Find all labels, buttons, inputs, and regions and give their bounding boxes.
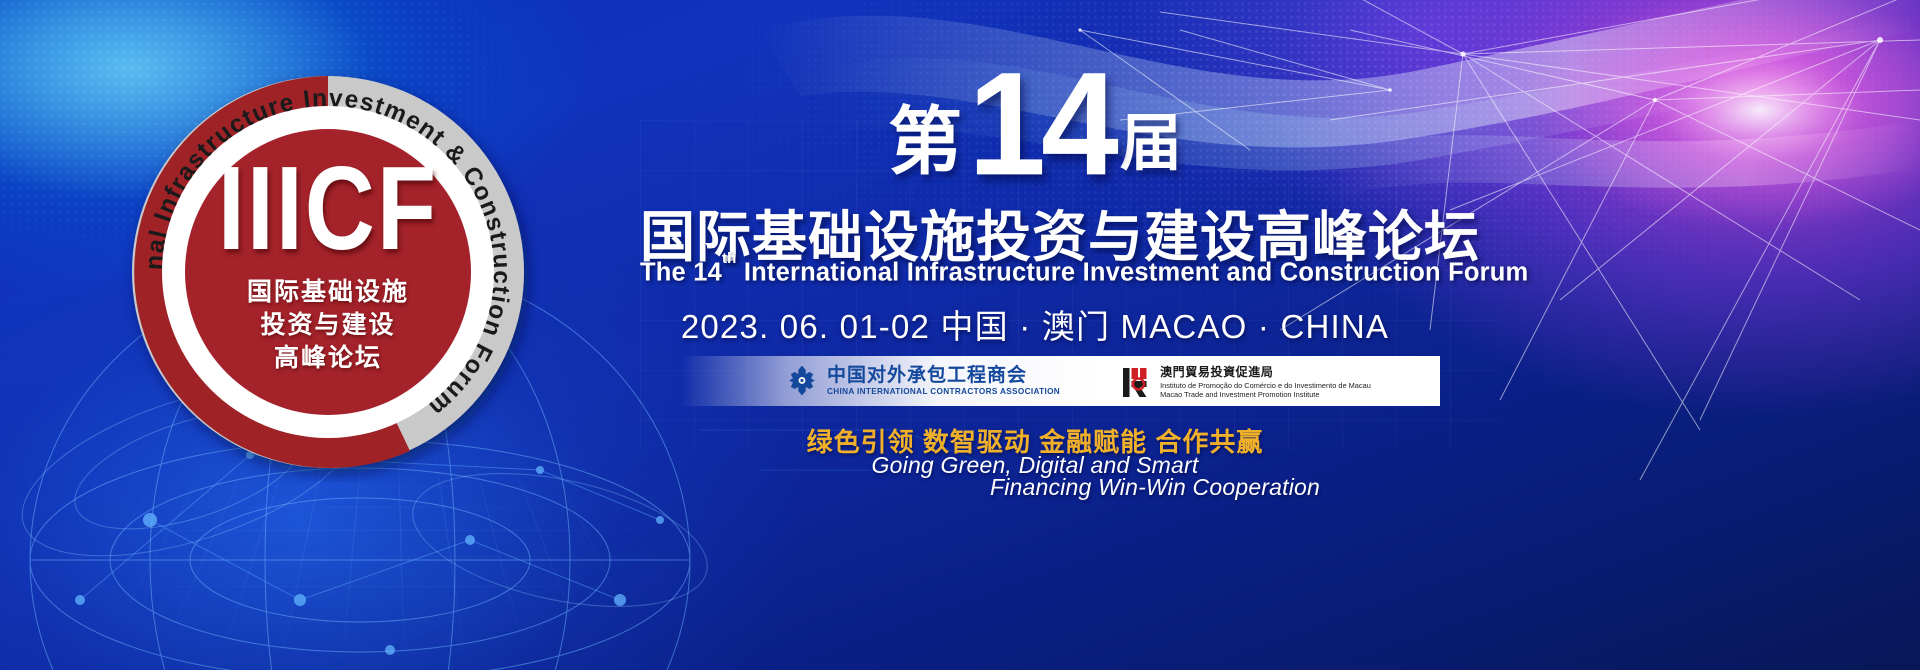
cica-name-cn: 中国对外承包工程商会: [827, 366, 1060, 386]
organiser-logo-bar: 中国对外承包工程商会 CHINA INTERNATIONAL CONTRACTO…: [680, 356, 1440, 406]
banner-content: 第 14 届 国际基础设施投资与建设高峰论坛 The 14th Internat…: [640, 0, 1920, 670]
edition-suffix: 届: [1120, 113, 1182, 175]
cica-name-en: CHINA INTERNATIONAL CONTRACTORS ASSOCIAT…: [827, 387, 1060, 396]
organiser-cica: 中国对外承包工程商会 CHINA INTERNATIONAL CONTRACTO…: [785, 364, 1060, 398]
slogan-english-line-2: Financing Win-Win Cooperation: [760, 474, 1550, 501]
forum-title-english-before: The 14: [640, 259, 722, 287]
ipim-logo-icon: [1122, 364, 1152, 398]
event-date-location: 2023. 06. 01-02 中国 · 澳门 MACAO · CHINA: [640, 300, 1430, 348]
ipim-name-en: Macao Trade and Investment Promotion Ins…: [1160, 390, 1371, 399]
edition-number: 14: [968, 59, 1114, 188]
ipim-name-pt: Instituto de Promoção do Comércio e do I…: [1160, 381, 1371, 390]
edition-headline: 第 14 届: [640, 62, 1430, 185]
iiicf-emblem: International Infrastructure Investment …: [118, 62, 538, 482]
edition-prefix: 第: [888, 105, 962, 179]
cica-logo-icon: [785, 364, 819, 398]
emblem-graphic: International Infrastructure Investment …: [118, 62, 538, 482]
organiser-ipim: 澳門貿易投資促進局 Instituto de Promoção do Comér…: [1122, 363, 1371, 400]
forum-title-english-after: International Infrastructure Investment …: [737, 259, 1529, 287]
forum-title-english: The 14th International Infrastructure In…: [640, 258, 1430, 288]
ordinal-suffix: th: [722, 250, 737, 267]
event-banner: International Infrastructure Investment …: [0, 0, 1920, 670]
ipim-name-cn: 澳門貿易投資促進局: [1160, 363, 1371, 380]
